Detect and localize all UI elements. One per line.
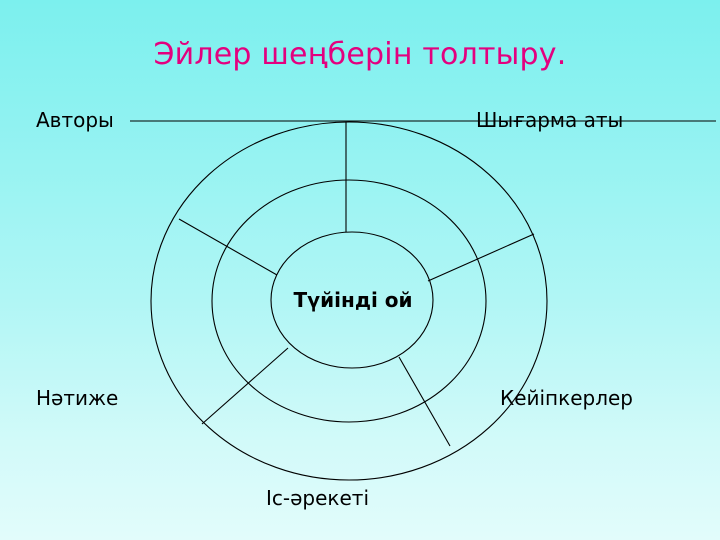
label-characters: Кейіпкерлер	[500, 386, 633, 410]
slide-canvas: Эйлер шеңберін толтыру. Авторы Шығарма а…	[0, 0, 720, 540]
label-center-key-idea: Түйінді ой	[272, 288, 434, 312]
spoke-lower-left	[202, 348, 288, 424]
label-action: Іс-әрекеті	[266, 486, 369, 510]
label-result: Нәтиже	[36, 386, 118, 410]
spoke-upper-right	[428, 234, 534, 281]
label-authors: Авторы	[36, 108, 114, 132]
spoke-upper-left	[179, 219, 277, 275]
spoke-lower-right	[399, 357, 450, 446]
label-work-title: Шығарма аты	[476, 108, 623, 132]
euler-circles-diagram	[0, 0, 720, 540]
